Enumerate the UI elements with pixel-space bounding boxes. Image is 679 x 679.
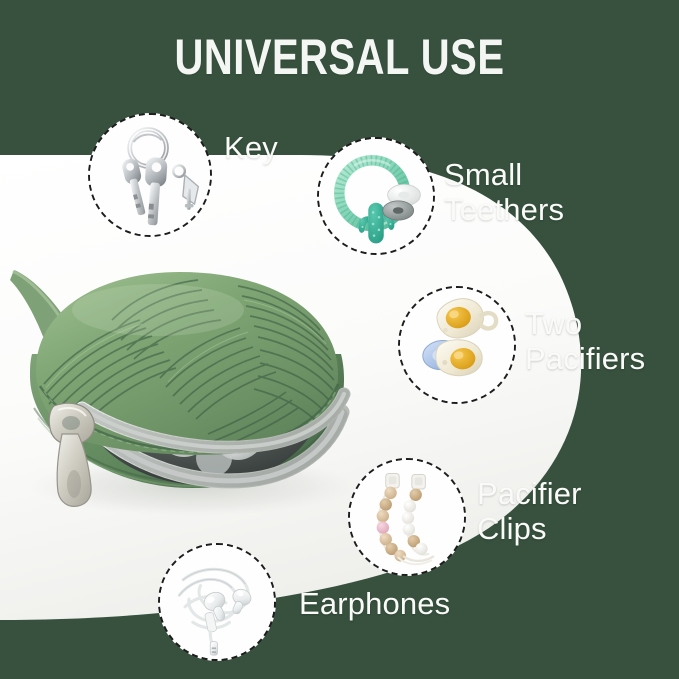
earphones-icon [160,545,274,659]
teether-ring-cactus-icon [319,139,433,253]
callout-label-key: Key [224,131,278,166]
callout-key [88,113,212,237]
callout-label-pacifier-clips: Pacifier Clips [477,477,582,546]
callout-label-small-teethers: Small Teethers [444,158,564,227]
callout-two-pacifiers [398,286,516,404]
page-title: UNIVERSAL USE [68,32,611,82]
product-image-silicone-pouch [8,258,368,520]
product-feature-graphic: UNIVERSAL USE [0,0,679,679]
key-ring-icon [90,115,210,235]
callout-pacifier-clips [348,458,466,576]
pacifier-pair-icon [400,288,514,402]
callout-label-two-pacifiers: Two Pacifiers [525,307,645,376]
beaded-pacifier-clip-icon [350,460,464,574]
callout-earphones [158,543,276,661]
callout-label-earphones: Earphones [299,587,450,622]
callout-small-teethers [317,137,435,255]
